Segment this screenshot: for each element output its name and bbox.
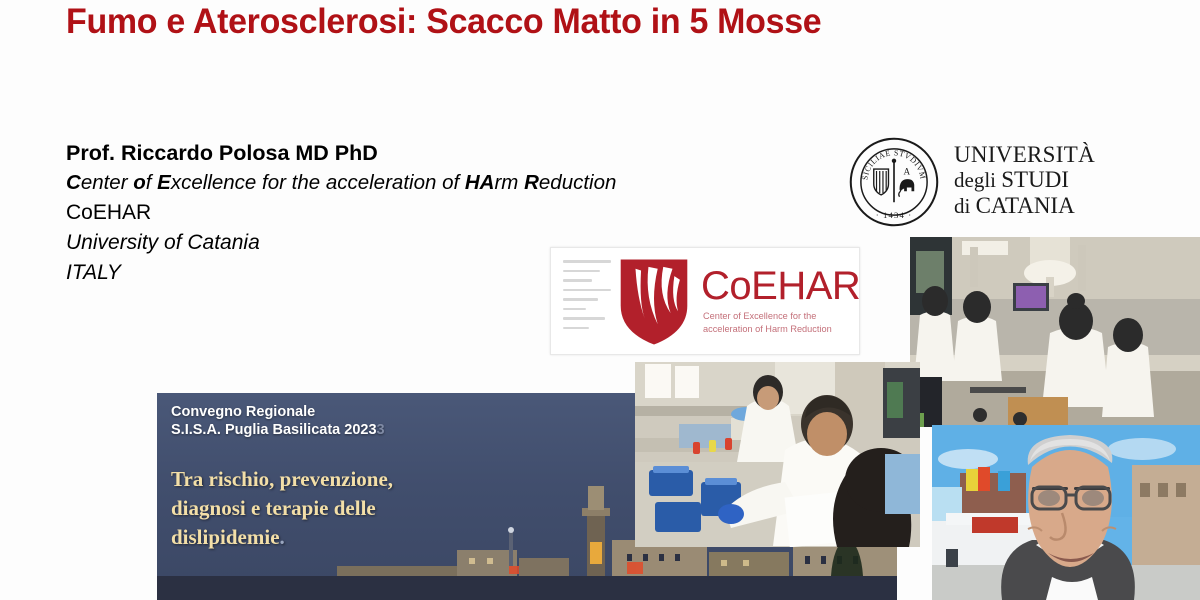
affiliation-xcellence: xcellence for the acceleration of (171, 171, 465, 194)
poster-subtitle: Tra rischio, prevenzione, diagnosi e ter… (171, 465, 501, 552)
coehar-placeholder-lines (563, 260, 611, 344)
affiliation-e: E (157, 171, 171, 194)
university-of-catania-logo: SICILIAE STVDIVM GENERALE · 1434 · A UNI… (848, 136, 1088, 228)
poster-line1: Convegno Regionale (171, 404, 315, 420)
poster-subtitle-line3: dislipidemie (171, 525, 280, 549)
university-wordmark-line3: di CATANIA (954, 193, 1095, 219)
poster-heading: Convegno Regionale S.I.S.A. Puglia Basil… (171, 403, 385, 439)
svg-text:· 1434 ·: · 1434 · (876, 210, 913, 220)
poster-subtitle-line1: Tra rischio, prevenzione, (171, 467, 393, 491)
affiliation-ha: HA (465, 171, 495, 194)
presenter-name: Prof. Riccardo Polosa MD PhD (66, 138, 616, 168)
wordmark-degli: degli (954, 168, 1001, 192)
presenter-acronym: CoEHAR (66, 198, 616, 228)
affiliation-r: R (524, 171, 539, 194)
university-seal-icon: SICILIAE STVDIVM GENERALE · 1434 · A (848, 136, 940, 228)
presenter-country: ITALY (66, 258, 616, 288)
wordmark-catania: CATANIA (976, 193, 1075, 218)
presenter-affiliation: Center of Excellence for the acceleratio… (66, 168, 616, 198)
presentation-slide: Fumo e Aterosclerosi: Scacco Matto in 5 … (0, 0, 1200, 600)
wordmark-di: di (954, 194, 976, 218)
coehar-tagline: Center of Excellence for the acceleratio… (703, 310, 853, 335)
poster-subtitle-dot: . (280, 525, 285, 549)
poster-line2: S.I.S.A. Puglia Basilicata 2023 (171, 422, 377, 438)
speaker-webcam-thumbnail[interactable] (932, 425, 1200, 600)
slide-title: Fumo e Aterosclerosi: Scacco Matto in 5 … (66, 2, 821, 42)
university-wordmark-line2: degli STUDI (954, 167, 1095, 193)
affiliation-eduction: eduction (539, 171, 617, 194)
poster-line2-ghost: 3 (377, 422, 385, 438)
affiliation-c: C (66, 171, 81, 194)
lab-photo-top-right (910, 237, 1200, 427)
affiliation-o: o (133, 171, 146, 194)
affiliation-rm: rm (494, 171, 524, 194)
wordmark-studi: STUDI (1001, 167, 1069, 192)
coehar-shield-icon (617, 257, 691, 347)
svg-text:A: A (904, 167, 911, 177)
lab-photo-top-right-graphic (910, 237, 1200, 427)
lab-photo-middle-graphic (635, 362, 920, 547)
speaker-webcam-graphic (932, 425, 1200, 600)
presenter-block: Prof. Riccardo Polosa MD PhD Center of E… (66, 138, 616, 288)
affiliation-enter: enter (81, 171, 133, 194)
lab-photo-middle (635, 362, 920, 547)
presenter-university: University of Catania (66, 228, 616, 258)
coehar-logo-card: CoEHAR Center of Excellence for the acce… (550, 247, 860, 355)
poster-subtitle-line2: diagnosi e terapie delle (171, 496, 376, 520)
university-wordmark-line1: UNIVERSITÀ (954, 142, 1095, 167)
university-wordmark: UNIVERSITÀ degli STUDI di CATANIA (954, 142, 1095, 219)
coehar-wordmark: CoEHAR (701, 264, 860, 309)
affiliation-f: f (146, 171, 157, 194)
